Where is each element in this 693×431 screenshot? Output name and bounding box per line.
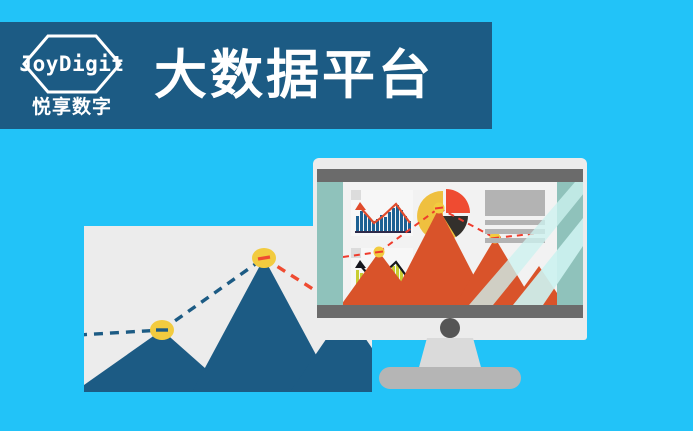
monitor-stand-base	[379, 367, 521, 389]
logo-chinese-text: 悦享数字	[32, 98, 112, 117]
monitor-screen	[317, 182, 583, 305]
placeholder-line	[485, 220, 545, 225]
page-title: 大数据平台	[154, 49, 434, 102]
brand-logo: JoyDigit 悦享数字	[12, 30, 132, 122]
content-placeholder-block[interactable]	[485, 190, 545, 243]
monitor-bezel-bottom	[317, 305, 583, 318]
screen-side-strip-right	[557, 182, 583, 305]
screen-side-strip-left	[317, 182, 343, 305]
monitor-bezel-top	[317, 169, 583, 182]
header-banner: JoyDigit 悦享数字 大数据平台	[0, 22, 492, 129]
placeholder-header-block	[485, 190, 545, 216]
poster-canvas: JoyDigit 悦享数字 大数据平台	[0, 0, 693, 431]
placeholder-line	[485, 229, 545, 234]
logo-latin-text: JoyDigit	[19, 54, 124, 75]
monitor-webcam-dot	[440, 318, 460, 338]
placeholder-line	[485, 238, 545, 243]
dashboard-content	[343, 182, 557, 305]
hexagon-outline-icon: JoyDigit	[20, 34, 124, 94]
desktop-monitor	[313, 158, 587, 340]
